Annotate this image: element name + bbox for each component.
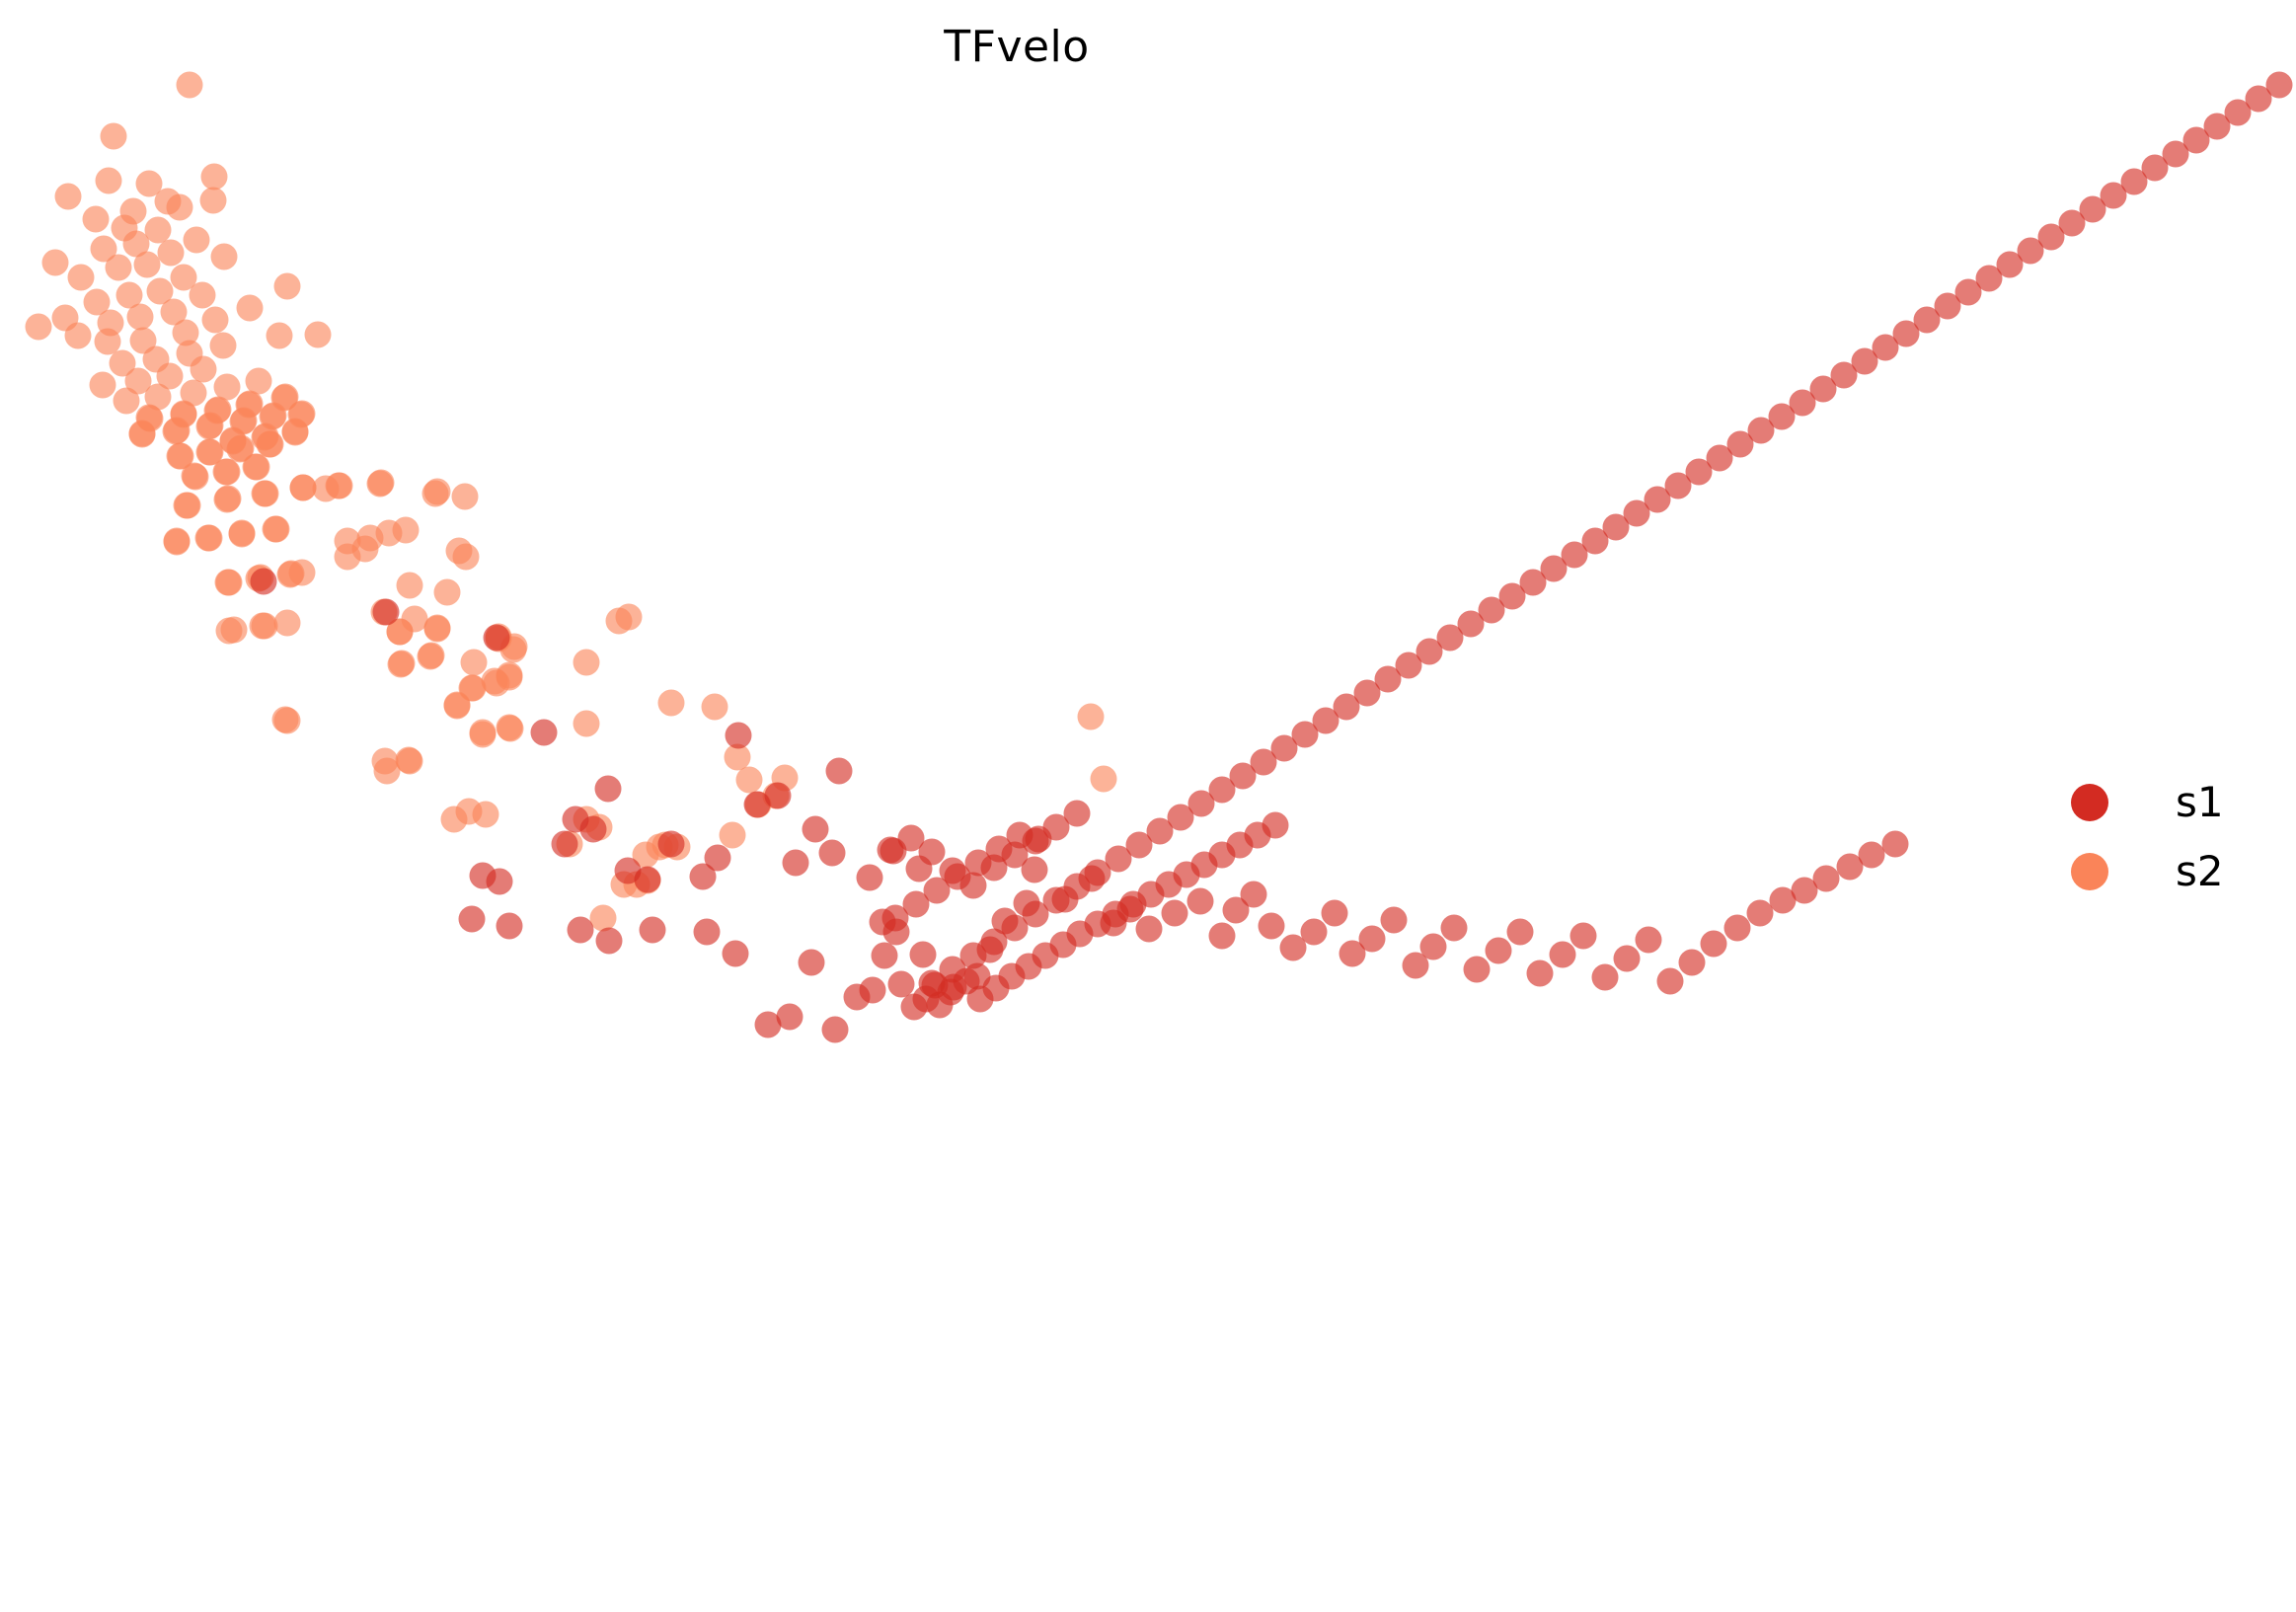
scatter-point	[1747, 900, 1774, 927]
scatter-point	[397, 573, 423, 599]
legend-marker-s1	[2071, 784, 2108, 821]
scatter-point	[1241, 882, 1267, 908]
scatter-point	[453, 544, 480, 571]
scatter-point	[1614, 946, 1641, 972]
scatter-point	[352, 536, 379, 563]
scatter-point	[434, 579, 461, 606]
scatter-point	[1486, 938, 1512, 964]
scatter-point	[484, 625, 510, 652]
scatter-point	[177, 72, 203, 99]
scatter-point	[1209, 923, 1236, 950]
scatter-point	[101, 123, 127, 150]
scatter-point	[393, 517, 420, 544]
scatter-point	[1162, 900, 1188, 927]
scatter-point	[822, 1017, 849, 1043]
scatter-point	[461, 650, 488, 676]
scatter-point	[267, 323, 293, 349]
scatter-point	[106, 255, 132, 281]
scatter-point	[136, 405, 163, 431]
scatter-point	[264, 516, 290, 543]
legend-item-s1[interactable]: s1	[2071, 768, 2268, 837]
legend: s1 s2	[2071, 768, 2268, 906]
scatter-point	[888, 971, 915, 998]
scatter-point	[95, 329, 121, 355]
scatter-point	[1882, 831, 1909, 858]
scatter-point	[1592, 964, 1619, 991]
scatter-point	[164, 528, 191, 555]
scatter-point	[136, 171, 163, 197]
scatter-point	[783, 850, 809, 877]
scatter-point	[726, 723, 752, 749]
scatter-point	[1359, 926, 1386, 953]
scatter-plot-figure: TFvelo s1 s2	[0, 0, 2296, 1612]
scatter-point	[723, 941, 749, 967]
scatter-point	[372, 748, 399, 775]
scatter-point	[278, 561, 305, 587]
scatter-point	[1859, 842, 1885, 869]
scatter-point	[497, 913, 523, 940]
scatter-point	[1136, 916, 1163, 943]
scatter-point	[252, 613, 278, 640]
scatter-point	[1464, 957, 1491, 983]
scatter-point	[422, 481, 449, 507]
legend-marker-s2	[2071, 853, 2108, 890]
scatter-point	[444, 692, 471, 719]
scatter-point	[1078, 704, 1105, 730]
scatter-point	[574, 711, 600, 737]
scatter-point	[803, 816, 829, 843]
scatter-point	[274, 708, 301, 734]
scatter-point	[452, 484, 479, 510]
scatter-point	[1813, 866, 1840, 892]
scatter-point	[1507, 919, 1534, 946]
scatter-point	[396, 747, 422, 774]
scatter-point	[171, 401, 197, 427]
scatter-series-s1	[251, 72, 2293, 1043]
scatter-point	[419, 643, 445, 669]
scatter-point	[221, 617, 248, 644]
scatter-point	[215, 486, 242, 512]
scatter-point	[246, 368, 272, 395]
scatter-point	[720, 822, 746, 849]
scatter-point	[184, 227, 210, 254]
scatter-point	[658, 831, 685, 858]
scatter-point	[42, 250, 69, 276]
scatter-point	[210, 333, 237, 359]
scatter-point	[190, 282, 216, 309]
scatter-point	[694, 919, 721, 946]
scatter-point	[872, 943, 898, 969]
scatter-point	[202, 307, 229, 334]
scatter-point	[83, 206, 110, 233]
scatter-point	[96, 168, 122, 194]
scatter-point	[1724, 915, 1751, 942]
scatter-point	[200, 188, 227, 214]
scatter-point	[826, 758, 853, 785]
scatter-point	[459, 906, 486, 933]
scatter-point	[531, 720, 558, 746]
legend-label-s1: s1	[2176, 782, 2224, 823]
legend-item-s2[interactable]: s2	[2071, 837, 2268, 906]
scatter-point	[305, 322, 332, 348]
scatter-point	[596, 928, 623, 955]
scatter-point	[574, 650, 600, 676]
scatter-point	[424, 615, 451, 642]
scatter-point	[251, 569, 277, 595]
scatter-point	[1263, 812, 1289, 839]
scatter-point	[919, 839, 946, 866]
scatter-point	[497, 716, 524, 742]
scatter-point	[765, 783, 792, 809]
scatter-point	[860, 977, 886, 1004]
scatter-point	[68, 265, 95, 291]
scatter-point	[167, 194, 193, 221]
scatter-point	[1381, 907, 1408, 934]
scatter-point	[552, 831, 578, 858]
scatter-point	[205, 397, 232, 423]
scatter-point	[1636, 927, 1662, 954]
scatter-point	[196, 525, 223, 552]
scatter-point	[470, 722, 497, 748]
scatter-point	[55, 184, 82, 210]
scatter-point	[1527, 960, 1554, 987]
scatter-series-s2	[26, 72, 1117, 932]
scatter-point	[174, 493, 200, 519]
scatter-point	[1301, 919, 1328, 946]
scatter-point	[1570, 923, 1597, 950]
scatter-point	[473, 802, 499, 828]
scatter-point	[26, 314, 52, 341]
scatter-point	[658, 690, 685, 717]
scatter-point	[777, 1004, 804, 1031]
scatter-point	[736, 767, 763, 794]
scatter-point	[1441, 915, 1468, 942]
scatter-point	[158, 240, 185, 267]
scatter-point	[211, 244, 238, 270]
scatter-point	[216, 570, 243, 596]
scatter-point	[1259, 913, 1285, 940]
scatter-point	[705, 845, 731, 872]
scatter-point	[2266, 72, 2293, 99]
scatter-point	[1701, 931, 1727, 958]
scatter-point	[367, 471, 394, 498]
scatter-point	[1091, 766, 1117, 793]
scatter-point	[819, 840, 846, 867]
scatter-point	[1187, 888, 1214, 915]
scatter-point	[168, 443, 194, 470]
scatter-point	[237, 295, 264, 322]
scatter-point	[290, 475, 317, 501]
scatter-point	[487, 869, 513, 895]
scatter-point	[568, 917, 594, 944]
scatter-point	[237, 391, 264, 418]
scatter-point	[274, 273, 301, 300]
scatter-point	[616, 604, 643, 631]
scatter-point	[1420, 934, 1447, 960]
scatter-point	[1550, 942, 1576, 968]
scatter-point	[702, 694, 728, 721]
scatter-point	[635, 867, 661, 893]
scatter-point	[799, 950, 825, 976]
legend-label-s2: s2	[2176, 851, 2224, 892]
scatter-point	[114, 388, 140, 415]
scatter-point	[214, 374, 241, 401]
scatter-point	[1064, 801, 1091, 827]
scatter-point	[127, 304, 154, 331]
scatter-point	[252, 481, 278, 507]
scatter-point	[1679, 950, 1706, 976]
scatter-point	[1322, 900, 1348, 927]
scatter-point	[327, 473, 353, 499]
scatter-point	[640, 917, 666, 944]
scatter-point	[134, 252, 161, 278]
scatter-point	[1007, 822, 1033, 849]
scatter-point	[580, 816, 607, 843]
scatter-point	[484, 670, 510, 697]
scatter-point	[229, 520, 256, 547]
scatter-point	[1657, 968, 1684, 995]
scatter-point	[590, 905, 617, 932]
scatter-point	[373, 599, 400, 626]
scatter-point	[197, 439, 224, 466]
scatter-point	[90, 372, 116, 399]
scatter-point	[191, 356, 217, 383]
scatter-point	[389, 651, 416, 677]
scatter-point	[272, 384, 299, 411]
scatter-canvas	[0, 0, 2296, 1612]
scatter-point	[910, 942, 937, 968]
scatter-point	[201, 164, 228, 191]
scatter-point	[65, 323, 92, 349]
scatter-point	[274, 610, 301, 637]
scatter-point	[595, 776, 622, 803]
scatter-point	[857, 865, 883, 891]
